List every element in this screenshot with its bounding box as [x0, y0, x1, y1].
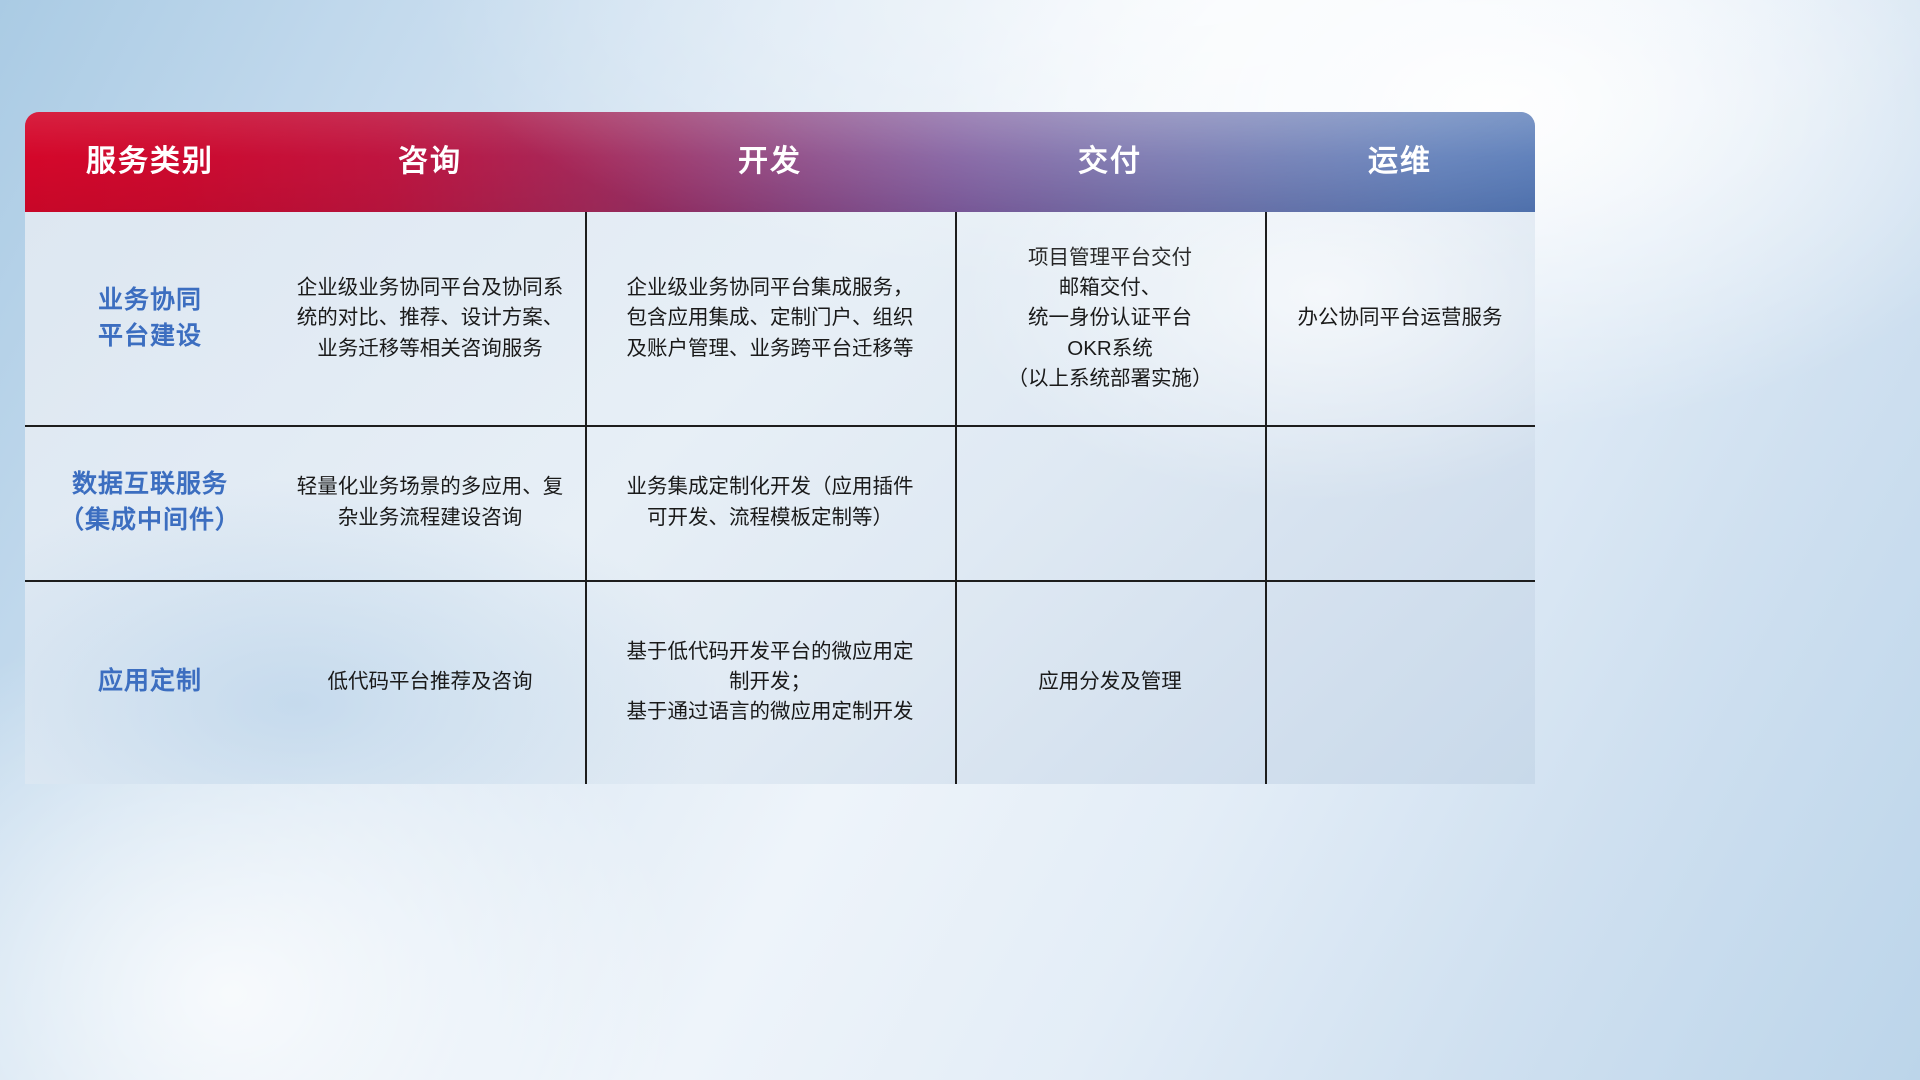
row-label-data-interconnect: 数据互联服务 （集成中间件） [25, 425, 275, 580]
column-divider-4 [1265, 212, 1267, 784]
column-header-development: 开发 [585, 147, 955, 177]
cell-delivery-r3: 应用分发及管理 [955, 580, 1265, 784]
row-label-business-collaboration: 业务协同 平台建设 [25, 212, 275, 425]
column-header-consulting: 咨询 [275, 147, 585, 177]
slide-canvas: 服务类别 咨询 开发 交付 运维 业务协同 平台建设 企业级业务协同平台及协同系… [0, 0, 1920, 1080]
cell-operations-r1: 办公协同平台运营服务 [1265, 212, 1535, 425]
table-row: 业务协同 平台建设 企业级业务协同平台及协同系 统的对比、推荐、设计方案、 业务… [25, 212, 1535, 425]
column-header-category: 服务类别 [25, 147, 275, 177]
row-divider-2 [25, 580, 1535, 582]
cell-operations-r2 [1265, 425, 1535, 580]
table-header-row: 服务类别 咨询 开发 交付 运维 [25, 112, 1535, 212]
column-divider-3 [955, 212, 957, 784]
column-header-operations: 运维 [1265, 147, 1535, 177]
table-body: 业务协同 平台建设 企业级业务协同平台及协同系 统的对比、推荐、设计方案、 业务… [25, 212, 1535, 784]
cell-delivery-r1: 项目管理平台交付 邮箱交付、 统一身份认证平台 OKR系统 （以上系统部署实施） [955, 212, 1265, 425]
row-divider-1 [25, 425, 1535, 427]
cell-operations-r3 [1265, 580, 1535, 784]
cell-consulting-r3: 低代码平台推荐及咨询 [275, 580, 585, 784]
table-row: 应用定制 低代码平台推荐及咨询 基于低代码开发平台的微应用定 制开发； 基于通过… [25, 580, 1535, 784]
cell-development-r2: 业务集成定制化开发（应用插件 可开发、流程模板定制等） [585, 425, 955, 580]
cell-development-r3: 基于低代码开发平台的微应用定 制开发； 基于通过语言的微应用定制开发 [585, 580, 955, 784]
row-label-app-customization: 应用定制 [25, 580, 275, 784]
cell-consulting-r1: 企业级业务协同平台及协同系 统的对比、推荐、设计方案、 业务迁移等相关咨询服务 [275, 212, 585, 425]
column-divider-2 [585, 212, 587, 784]
cell-development-r1: 企业级业务协同平台集成服务， 包含应用集成、定制门户、组织 及账户管理、业务跨平… [585, 212, 955, 425]
cell-delivery-r2 [955, 425, 1265, 580]
services-matrix-table: 服务类别 咨询 开发 交付 运维 业务协同 平台建设 企业级业务协同平台及协同系… [25, 112, 1535, 784]
table-row: 数据互联服务 （集成中间件） 轻量化业务场景的多应用、复 杂业务流程建设咨询 业… [25, 425, 1535, 580]
column-header-delivery: 交付 [955, 147, 1265, 177]
cell-consulting-r2: 轻量化业务场景的多应用、复 杂业务流程建设咨询 [275, 425, 585, 580]
